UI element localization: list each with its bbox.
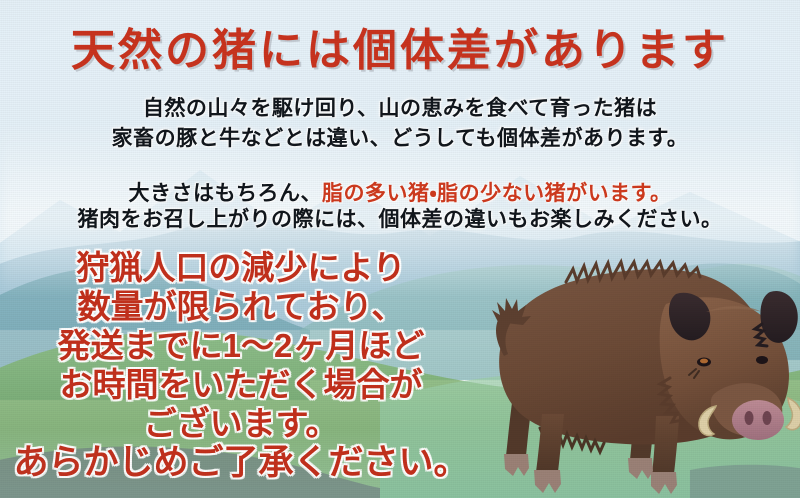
shipping-notice: 狩猟人口の減少により 数量が限られており、 発送までに1〜2ヶ月ほど お時間をい… — [6, 248, 476, 482]
banner-title: 天然の猪には個体差があります — [0, 14, 800, 78]
boar-hooves — [504, 454, 677, 494]
notice-line-3: 発送までに1〜2ヶ月ほど — [6, 326, 476, 365]
notice-line-4: お時間をいただく場合が — [6, 365, 476, 404]
notice-line-2: 数量が限られており、 — [6, 287, 476, 326]
boar-tusk-right — [786, 398, 800, 430]
notice-line-1: 狩猟人口の減少により — [6, 248, 476, 287]
notice-line-5: ございます。 — [6, 404, 476, 443]
variation-line-1-plain: 大きさはもちろん、 — [128, 182, 322, 205]
intro-line-1: 自然の山々を駆け回り、山の恵みを食べて育った猪は — [0, 92, 800, 122]
variation-line-1-highlight: 脂の多い猪・脂の少ない猪がいます。 — [322, 182, 672, 205]
boar-snout — [732, 400, 784, 440]
variation-line-2: 猪肉をお召し上がりの際には、個体差の違いもお楽しみください。 — [0, 203, 800, 233]
wild-boar-illustration — [470, 238, 800, 498]
boar-nostril-left — [745, 411, 754, 425]
notice-line-6: あらかじめご了承ください。 — [6, 443, 476, 482]
product-notice-banner: 天然の猪には個体差があります 自然の山々を駆け回り、山の恵みを食べて育った猪は … — [0, 0, 800, 498]
boar-ear-right — [760, 291, 797, 343]
intro-line-2: 家畜の豚と牛などとは違い、どうしても個体差があります。 — [0, 122, 800, 152]
boar-nostril-right — [763, 411, 772, 425]
